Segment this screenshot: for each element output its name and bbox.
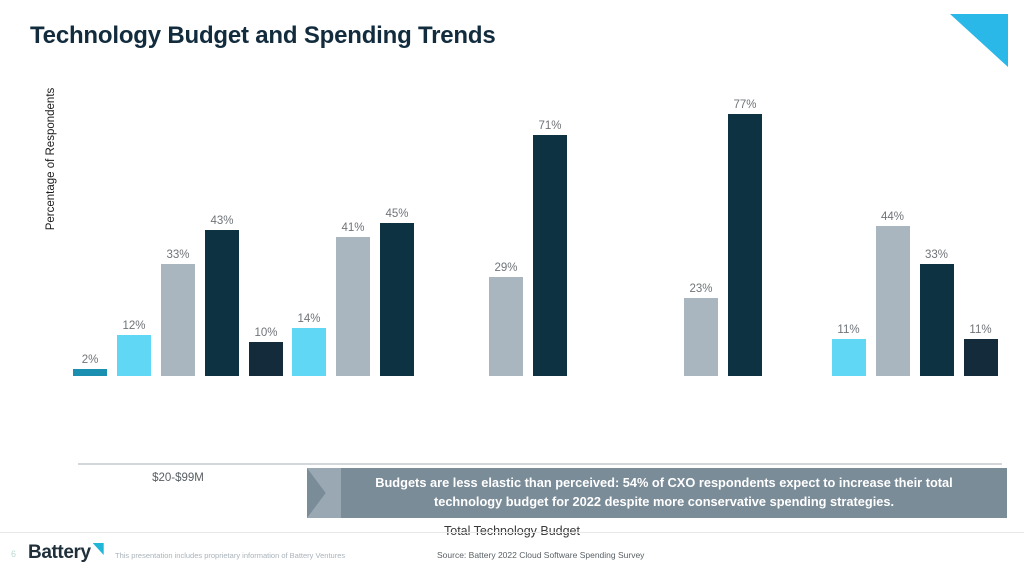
- bar-group: 2%12%33%43%10%: [78, 104, 278, 376]
- bar-group: 23%77%: [663, 104, 783, 376]
- bar-slot: 12%: [117, 104, 151, 376]
- bar-group: 14%41%45%: [273, 104, 433, 376]
- bar-value-label: 33%: [925, 249, 948, 261]
- bar-slot: 11%: [964, 104, 998, 376]
- bar[interactable]: 33%: [161, 264, 195, 376]
- bar-slot: 14%: [292, 104, 326, 376]
- bar-slot: 71%: [533, 104, 567, 376]
- bar-value-label: 29%: [494, 262, 517, 274]
- bar-value-label: 43%: [210, 215, 233, 227]
- bar[interactable]: 45%: [380, 223, 414, 376]
- bar-value-label: 2%: [82, 354, 99, 366]
- bar-value-label: 44%: [881, 211, 904, 223]
- y-axis-title: Percentage of Respondents: [45, 54, 57, 264]
- bar[interactable]: 2%: [73, 369, 107, 376]
- bar[interactable]: 77%: [728, 114, 762, 376]
- bar[interactable]: 11%: [832, 339, 866, 376]
- bar-value-label: 14%: [297, 313, 320, 325]
- brand-logo: Battery: [28, 542, 104, 564]
- bar[interactable]: 14%: [292, 328, 326, 376]
- bar-value-label: 23%: [689, 283, 712, 295]
- bar-slot: 44%: [876, 104, 910, 376]
- bar-value-label: 41%: [341, 222, 364, 234]
- bar-slot: 33%: [161, 104, 195, 376]
- footer-divider: [0, 532, 1024, 533]
- x-axis-tick-label: $20-$99M: [78, 472, 278, 484]
- corner-triangle-decoration: [950, 14, 1008, 67]
- bar-chart: Percentage of Respondents Down >10%Down …: [0, 96, 1024, 456]
- disclaimer-text: This presentation includes proprietary i…: [115, 551, 345, 560]
- bar-value-label: 11%: [837, 324, 859, 336]
- bar[interactable]: 71%: [533, 135, 567, 376]
- bar-value-label: 77%: [733, 99, 756, 111]
- bar-value-label: 45%: [385, 208, 408, 220]
- bar-group: 29%71%: [468, 104, 588, 376]
- x-axis-baseline: [78, 463, 1002, 465]
- bar-slot: 2%: [73, 104, 107, 376]
- bar[interactable]: 23%: [684, 298, 718, 376]
- bar[interactable]: 44%: [876, 226, 910, 376]
- bar-slot: 43%: [205, 104, 239, 376]
- bar[interactable]: 11%: [964, 339, 998, 376]
- bar-slot: 33%: [920, 104, 954, 376]
- callout-text: Budgets are less elastic than perceived:…: [307, 474, 1007, 511]
- bar[interactable]: 41%: [336, 237, 370, 376]
- bar-value-label: 71%: [538, 120, 561, 132]
- bar-value-label: 33%: [166, 249, 189, 261]
- bar-slot: 11%: [832, 104, 866, 376]
- source-text: Source: Battery 2022 Cloud Software Spen…: [437, 550, 644, 560]
- bar-value-label: 11%: [969, 324, 991, 336]
- brand-name: Battery: [28, 542, 91, 564]
- page-number: 6: [11, 549, 16, 559]
- bar[interactable]: 29%: [489, 277, 523, 376]
- bar-group: 11%44%33%11%: [827, 104, 1002, 376]
- brand-triangle-icon: [93, 543, 104, 555]
- bar[interactable]: 33%: [920, 264, 954, 376]
- bar[interactable]: 12%: [117, 335, 151, 376]
- page-title: Technology Budget and Spending Trends: [30, 22, 496, 50]
- bar-value-label: 12%: [122, 320, 145, 332]
- bar-slot: 29%: [489, 104, 523, 376]
- bar-slot: 23%: [684, 104, 718, 376]
- bar-slot: 77%: [728, 104, 762, 376]
- x-axis-title: Total Technology Budget: [0, 524, 1024, 538]
- bar-slot: 45%: [380, 104, 414, 376]
- bar[interactable]: 43%: [205, 230, 239, 376]
- bar-slot: 41%: [336, 104, 370, 376]
- callout-banner: Budgets are less elastic than perceived:…: [307, 468, 1007, 518]
